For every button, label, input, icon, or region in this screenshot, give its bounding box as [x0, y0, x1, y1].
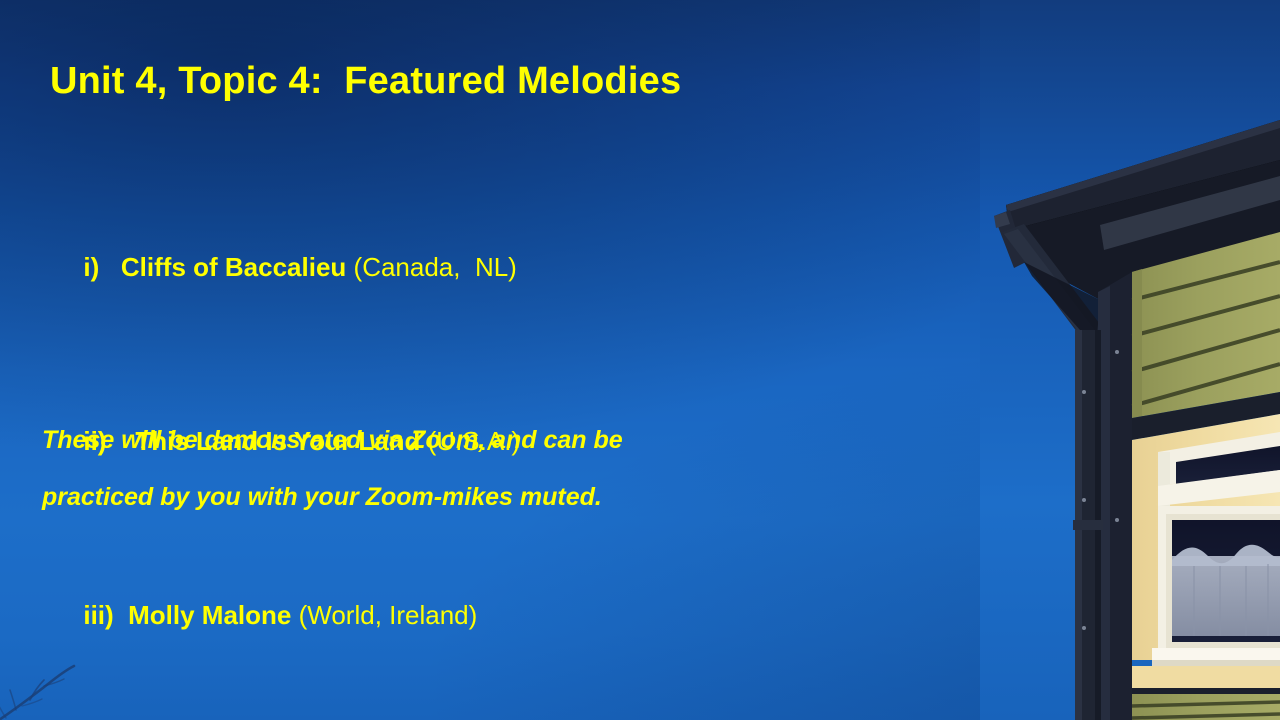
melody-origin: (Canada, NL) [346, 252, 517, 282]
list-marker: i) [83, 252, 99, 282]
slide-title: Unit 4, Topic 4: Featured Melodies [50, 60, 681, 103]
list-item: i) Cliffs of Baccalieu (Canada, NL) [40, 180, 940, 354]
list-item: iii) Molly Malone (World, Ireland) [40, 528, 940, 702]
list-gap [99, 252, 121, 282]
melody-title: Cliffs of Baccalieu [121, 252, 346, 282]
house-corner-photo [980, 0, 1280, 720]
melody-title: Molly Malone [128, 600, 291, 630]
instruction-note: These will be demonsrated via Zoom, and … [42, 412, 902, 526]
list-marker: iii) [83, 600, 113, 630]
note-line-2: practiced by you with your Zoom-mikes mu… [42, 469, 902, 526]
melody-origin: (World, Ireland) [291, 600, 477, 630]
presentation-slide: Unit 4, Topic 4: Featured Melodies i) Cl… [0, 0, 1280, 720]
note-line-1: These will be demonsrated via Zoom, and … [42, 412, 902, 469]
list-gap [114, 600, 128, 630]
